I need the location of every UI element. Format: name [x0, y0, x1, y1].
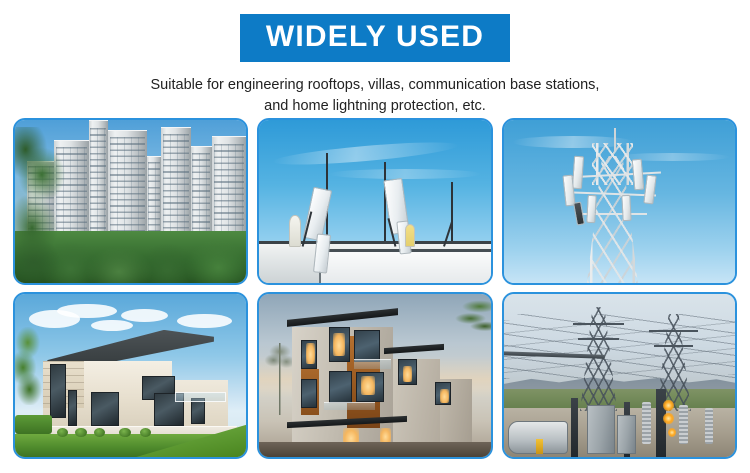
palm-frond-shape: [444, 297, 490, 339]
window-shape: [191, 398, 205, 424]
insulator-shape: [705, 408, 713, 444]
hedge-shape: [15, 415, 52, 435]
building-shape: [108, 130, 147, 241]
warning-lamp-shape: [663, 413, 673, 424]
antenna-mast-shape: [384, 162, 386, 247]
eave-shape: [287, 308, 398, 326]
power-lines-shape: [504, 320, 735, 375]
image-gallery-grid: [13, 118, 737, 459]
warning-lamp-shape: [663, 400, 673, 411]
cloud-shape: [329, 169, 482, 179]
building-shape: [161, 127, 191, 241]
photo-high-rise-apartments: [15, 120, 246, 283]
subtitle-line-2: and home lightning protection, etc.: [60, 96, 690, 117]
switchgear-shape: [587, 405, 615, 454]
gallery-item-high-rise-apartments[interactable]: [13, 118, 248, 285]
cloud-shape: [121, 309, 167, 322]
gallery-item-multi-storey-house[interactable]: [257, 292, 492, 459]
bush-shape: [119, 428, 131, 438]
photo-rooftop-base-station: [259, 120, 490, 283]
subtitle-line-1: Suitable for engineering rooftops, villa…: [60, 75, 690, 96]
lightning-rod-shape: [614, 128, 616, 151]
photo-electrical-substation: [504, 294, 735, 457]
window-shape: [354, 330, 379, 363]
cloud-shape: [91, 320, 133, 331]
equipment-box-shape: [536, 439, 543, 454]
sector-antenna-shape: [572, 156, 585, 189]
page-header: WIDELY USED Suitable for engineering roo…: [0, 0, 750, 117]
balcony-shape: [175, 392, 226, 402]
cloud-shape: [57, 304, 117, 319]
photo-multi-storey-house: [259, 294, 490, 457]
sector-antenna-shape: [643, 175, 657, 205]
photo-cellular-lattice-tower: [504, 120, 735, 283]
window-shape: [50, 364, 66, 418]
foreground-tree-shape: [15, 127, 71, 267]
gallery-item-cellular-lattice-tower[interactable]: [502, 118, 737, 285]
lit-window-shape: [440, 389, 449, 404]
window-shape: [301, 379, 317, 408]
building-shape: [191, 146, 212, 241]
insulator-shape: [642, 402, 650, 444]
crossarm-shape: [573, 323, 624, 325]
balcony-railing-shape: [354, 359, 391, 369]
building-shape: [147, 156, 161, 241]
bush-shape: [75, 428, 87, 438]
page-title: WIDELY USED: [240, 14, 510, 62]
crossarm-shape: [578, 338, 620, 340]
parapet-shape: [319, 249, 490, 283]
building-shape: [89, 120, 108, 241]
building-shape: [212, 136, 247, 240]
lit-window-shape: [361, 376, 375, 396]
widely-used-page: WIDELY USED Suitable for engineering roo…: [0, 0, 750, 473]
sector-antenna-shape: [621, 195, 632, 222]
ground-shape: [259, 442, 490, 457]
radome-shape: [405, 224, 415, 247]
photo-modern-villa: [15, 294, 246, 457]
insulator-shape: [679, 405, 687, 444]
balcony-railing-shape: [324, 402, 375, 410]
lit-window-shape: [306, 343, 315, 364]
lit-window-shape: [403, 366, 412, 382]
lit-window-shape: [333, 333, 345, 356]
tower-head-shape: [592, 143, 634, 185]
crossarm-shape: [649, 330, 698, 332]
gallery-item-electrical-substation[interactable]: [502, 292, 737, 459]
sector-antenna-shape: [586, 195, 597, 223]
sector-antenna-shape: [632, 159, 645, 191]
window-shape: [329, 371, 352, 404]
gallery-item-modern-villa[interactable]: [13, 292, 248, 459]
page-subtitle: Suitable for engineering rooftops, villa…: [0, 75, 750, 117]
window-shape: [68, 390, 77, 426]
antenna-mast-shape: [451, 182, 453, 247]
gallery-item-rooftop-base-station[interactable]: [257, 118, 492, 285]
support-column-shape: [571, 398, 578, 457]
cloud-shape: [273, 138, 459, 169]
radome-shape: [289, 215, 301, 248]
crossarm-shape: [654, 345, 693, 347]
switchgear-shape: [617, 415, 636, 454]
window-shape: [91, 392, 119, 426]
cloud-shape: [177, 314, 233, 329]
